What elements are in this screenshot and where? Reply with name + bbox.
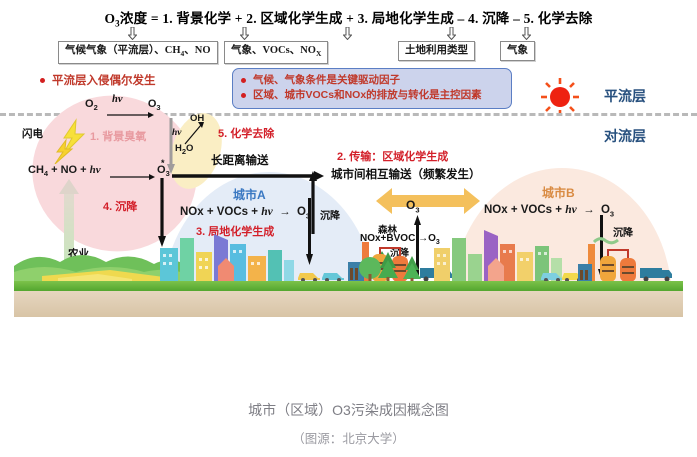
equation-city-b: NOx + VOCs + hv → O3 — [484, 204, 614, 218]
equation-ch4-no: CH4 + NO + hv — [28, 164, 101, 178]
ground-soil — [14, 291, 683, 317]
label-transport-intercity: 城市间相互输送（频繁发生） — [331, 166, 481, 182]
factor-box-meteorology: 气象 — [500, 41, 535, 61]
formula-rest: 浓度 = 1. 背景化学 + 2. 区域化学生成 + 3. 局地化学生成 – 4… — [120, 11, 593, 26]
page-title-formula: O3浓度 = 1. 背景化学 + 2. 区域化学生成 + 3. 局地化学生成 –… — [0, 7, 697, 29]
formula-text: O3浓度 = 1. 背景化学 + 2. 区域化学生成 + 3. 局地化学生成 –… — [104, 11, 592, 26]
figure-source: （图源：北京大学） — [0, 428, 697, 447]
label-lightning: 闪电 — [22, 126, 43, 141]
callout-text-2: 区域、城市VOCs和NOx的排放与转化是主控因素 — [253, 89, 482, 101]
bullet-icon — [40, 78, 45, 83]
callout-line-2: 区域、城市VOCs和NOx的排放与转化是主控因素 — [241, 88, 503, 103]
label-hv-photolysis-2: hv — [172, 128, 182, 138]
label-o3-asterisk: * — [161, 158, 165, 168]
bidirectional-transport-arrow — [374, 186, 482, 216]
label-long-distance-transport: 长距离输送 — [211, 152, 269, 168]
arrow-o2-to-o3 — [107, 106, 155, 124]
label-chemical-removal: 5. 化学去除 — [218, 125, 274, 141]
callout-text-1: 气候、气象条件是关键驱动因子 — [253, 74, 400, 86]
sun-icon — [538, 76, 582, 118]
down-arrow-icon-3 — [343, 27, 352, 40]
label-o3-transported: O3 — [406, 198, 420, 214]
factor-box-meteorology-vocs-nox: 气象、VOCs、NOX — [224, 41, 328, 64]
city-a-skyline — [158, 230, 294, 287]
down-arrow-icon-1 — [128, 27, 137, 40]
ground-grass — [14, 281, 683, 291]
callout-line-1: 气候、气象条件是关键驱动因子 — [241, 73, 503, 88]
figure-caption: 城市（区域）O3污染成因概念图 — [0, 400, 697, 420]
equation-city-a: NOx + VOCs + hv → O3 — [180, 206, 310, 220]
bullet-icon — [241, 78, 246, 83]
label-city-b: 城市B — [542, 184, 575, 201]
label-deposition-city-a: 沉降 — [320, 207, 340, 222]
key-drivers-callout: 气候、气象条件是关键驱动因子 区域、城市VOCs和NOx的排放与转化是主控因素 — [232, 68, 512, 109]
arrow-h2o-to-oh — [184, 120, 206, 151]
down-arrow-icon-4 — [447, 27, 456, 40]
down-arrow-icon-2 — [240, 27, 249, 40]
arrow-long-distance-transport — [172, 168, 324, 186]
label-deposition-4: 4. 沉降 — [103, 198, 137, 214]
label-hv-photolysis-1: hv — [112, 94, 123, 105]
arrow-deposition-city-a — [305, 198, 314, 271]
label-troposphere: 对流层 — [604, 126, 646, 146]
label-city-a: 城市A — [233, 186, 266, 203]
note-label: 平流层入侵偶尔发生 — [52, 75, 156, 87]
arrow-ch4-to-o3 — [110, 168, 156, 186]
factor-box-land-use: 土地利用类型 — [398, 41, 475, 61]
down-arrow-icon-5 — [522, 27, 531, 40]
label-stratosphere: 平流层 — [604, 86, 646, 106]
bullet-icon — [241, 93, 246, 98]
lightning-bolt-icon — [50, 118, 92, 169]
label-transport-regional: 2. 传输：区域化学生成 — [337, 148, 448, 164]
note-stratospheric-intrusion: 平流层入侵偶尔发生 — [40, 72, 156, 88]
label-background-ozone: 1. 背景臭氧 — [90, 128, 146, 144]
factor-box-climate-stratosphere: 气候气象（平流层）、CH4、NO — [58, 41, 218, 64]
